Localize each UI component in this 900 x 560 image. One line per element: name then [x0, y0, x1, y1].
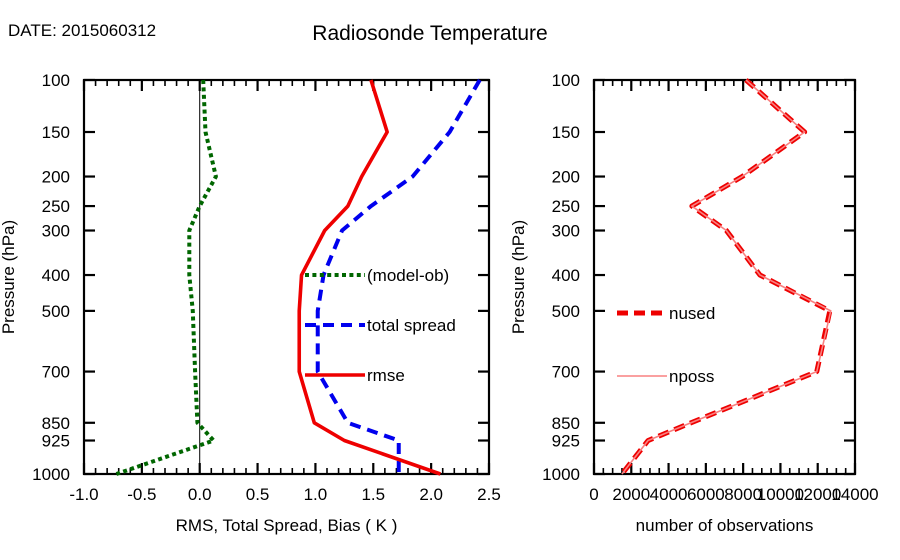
y-tick-label: 1000 [542, 465, 580, 484]
legend-label: nposs [669, 367, 714, 386]
x-axis-title: RMS, Total Spread, Bias ( K ) [176, 516, 398, 535]
legend-label: total spread [367, 316, 456, 335]
y-tick-label: 500 [552, 302, 580, 321]
x-tick-label: 4000 [650, 485, 688, 504]
y-tick-label: 300 [42, 222, 70, 241]
y-tick-label: 1000 [32, 465, 70, 484]
y-tick-label: 925 [552, 432, 580, 451]
y-tick-label: 700 [42, 363, 70, 382]
x-tick-label: 0.0 [188, 485, 212, 504]
x-tick-label: 6000 [687, 485, 725, 504]
chart-page: DATE: 2015060312 Radiosonde Temperature … [0, 0, 900, 560]
legend-label: nused [669, 304, 715, 323]
x-tick-label: 1.5 [361, 485, 385, 504]
y-axis-title: Pressure (hPa) [509, 220, 528, 334]
figure-background [0, 0, 900, 560]
x-tick-label: -0.5 [127, 485, 156, 504]
x-tick-label: -1.0 [69, 485, 98, 504]
y-tick-label: 850 [552, 414, 580, 433]
y-tick-label: 250 [42, 197, 70, 216]
y-tick-label: 400 [552, 266, 580, 285]
x-tick-label: 2.0 [419, 485, 443, 504]
page-title: Radiosonde Temperature [312, 22, 547, 45]
x-axis-title: number of observations [636, 516, 814, 535]
y-tick-label: 400 [42, 266, 70, 285]
x-tick-label: 14000 [831, 485, 878, 504]
y-tick-label: 700 [552, 363, 580, 382]
figure-canvas: DATE: 2015060312 Radiosonde Temperature … [0, 0, 900, 560]
legend-label: (model-ob) [367, 266, 449, 285]
x-tick-label: 2.5 [477, 485, 501, 504]
y-tick-label: 150 [42, 123, 70, 142]
x-tick-label: 1.0 [304, 485, 328, 504]
legend-label: rmse [367, 366, 405, 385]
y-tick-label: 100 [552, 71, 580, 90]
y-tick-label: 100 [42, 71, 70, 90]
y-tick-label: 500 [42, 302, 70, 321]
x-tick-label: 2000 [612, 485, 650, 504]
y-tick-label: 850 [42, 414, 70, 433]
y-tick-label: 300 [552, 222, 580, 241]
y-tick-label: 250 [552, 197, 580, 216]
date-label: DATE: 2015060312 [8, 21, 156, 40]
y-tick-label: 200 [552, 168, 580, 187]
y-tick-label: 150 [552, 123, 580, 142]
y-axis-title: Pressure (hPa) [0, 220, 18, 334]
x-tick-label: 0 [589, 485, 598, 504]
x-tick-label: 0.5 [246, 485, 270, 504]
y-tick-label: 200 [42, 168, 70, 187]
y-tick-label: 925 [42, 432, 70, 451]
